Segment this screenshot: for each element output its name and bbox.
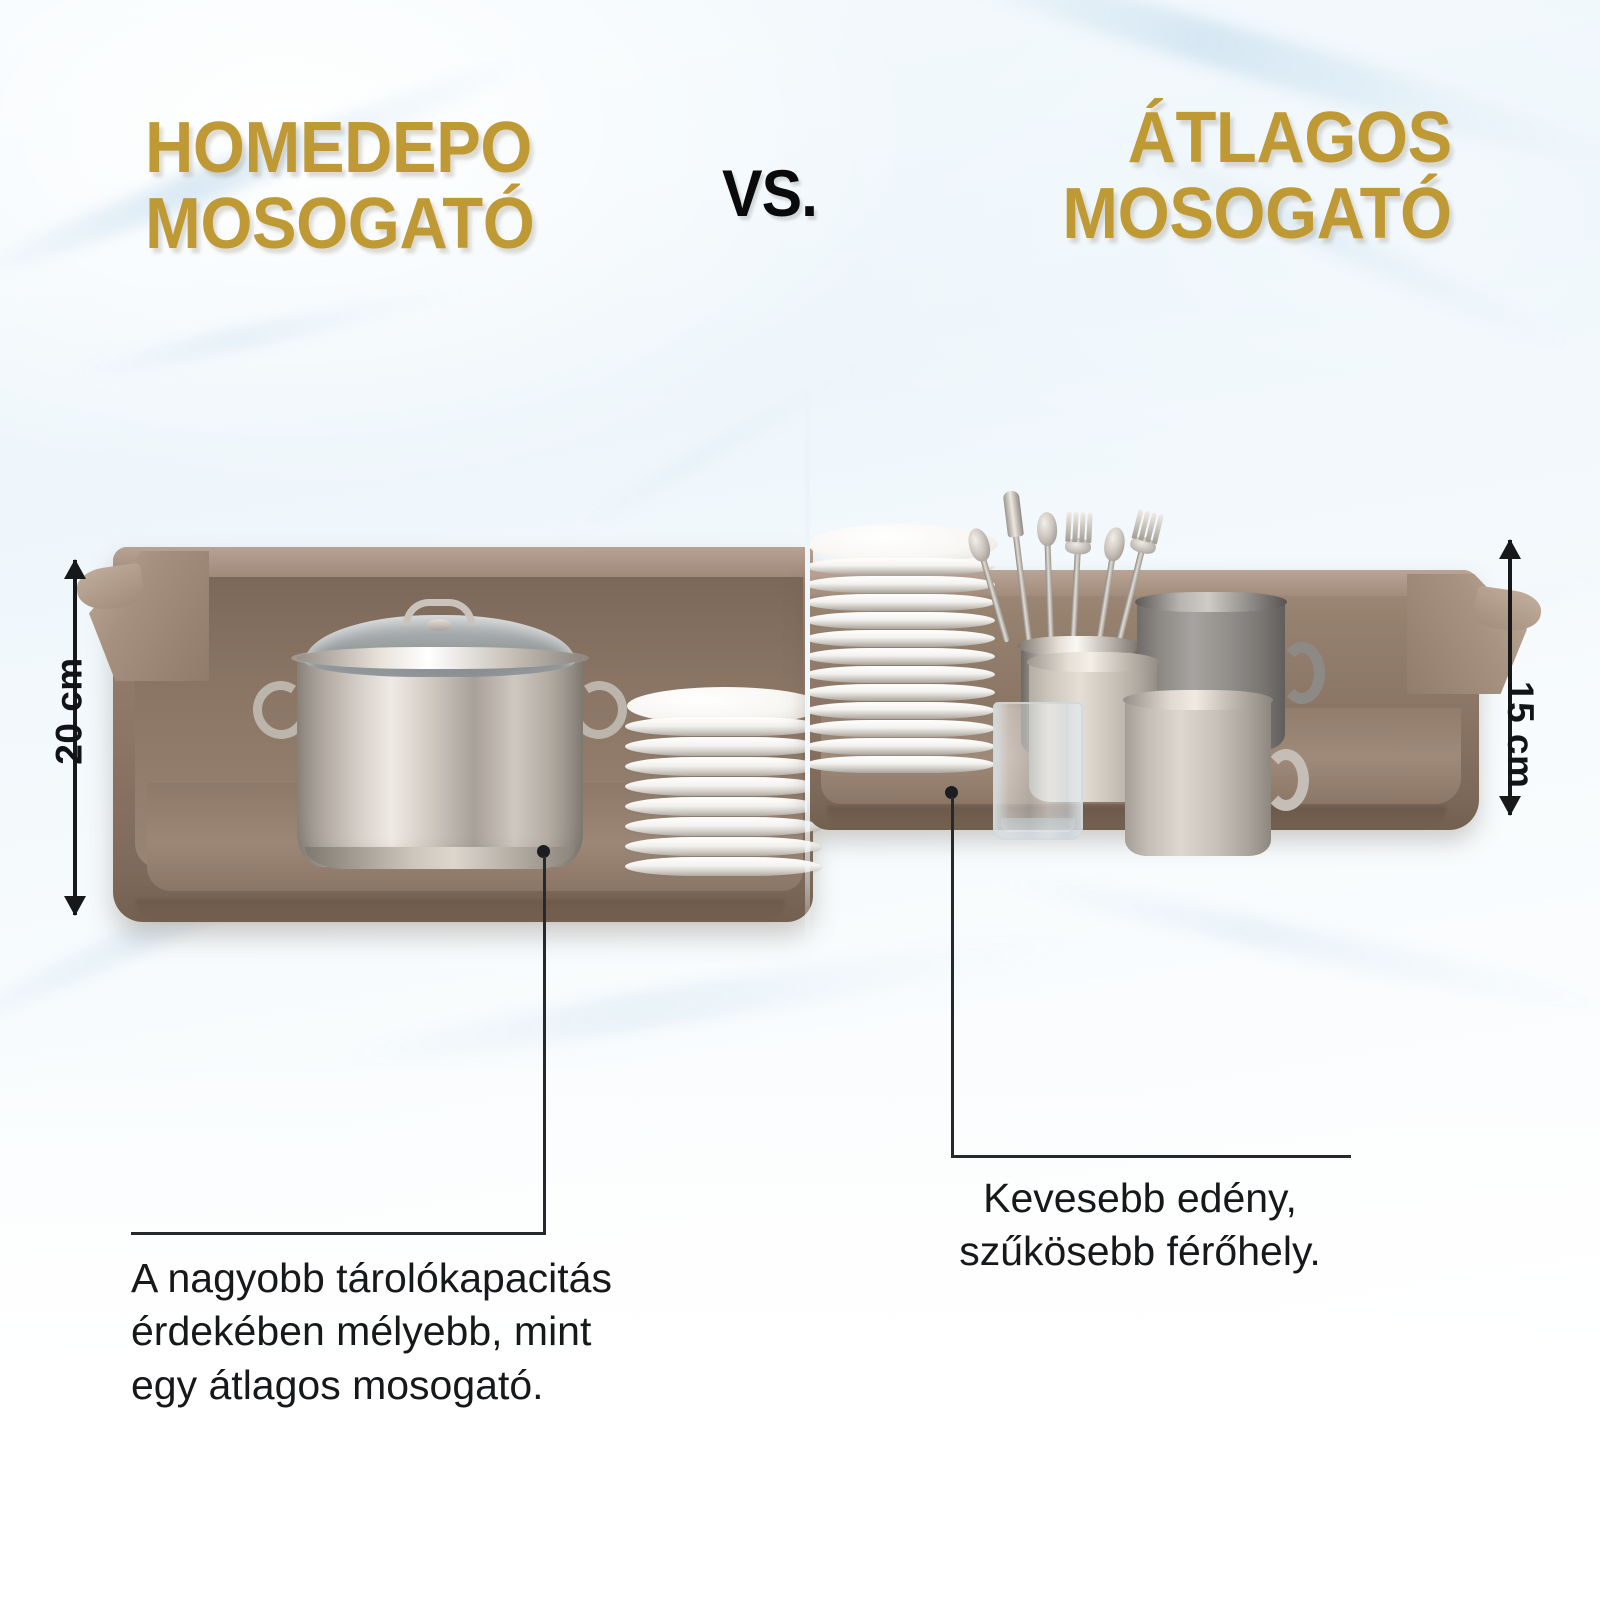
left-feature-caption: A nagyobb tárolókapacitás érdekében mély…	[131, 1252, 691, 1412]
left-product-title: HOMEDEPO MOSOGATÓ	[145, 110, 534, 263]
white-plate-stack-right	[805, 542, 1001, 790]
comparison-infographic: HOMEDEPO MOSOGATÓ VS. ÁTLAGOS MOSOGATÓ	[0, 0, 1600, 1600]
right-product-title: ÁTLAGOS MOSOGATÓ	[1063, 100, 1452, 253]
homedepo-deep-sink-photo	[95, 515, 810, 935]
right-depth-label: 15 cm	[1499, 681, 1541, 788]
left-depth-label: 20 cm	[49, 657, 91, 764]
stainless-stock-pot	[275, 585, 605, 875]
versus-label: VS.	[722, 155, 817, 231]
white-plate-stack-left	[625, 703, 825, 888]
right-feature-caption: Kevesebb edény, szűkösebb férőhely.	[905, 1172, 1375, 1279]
photo-split-seam	[805, 365, 810, 965]
average-shallow-sink-photo	[807, 540, 1515, 885]
greige-mug	[1125, 698, 1271, 856]
drinking-glass	[993, 702, 1083, 840]
